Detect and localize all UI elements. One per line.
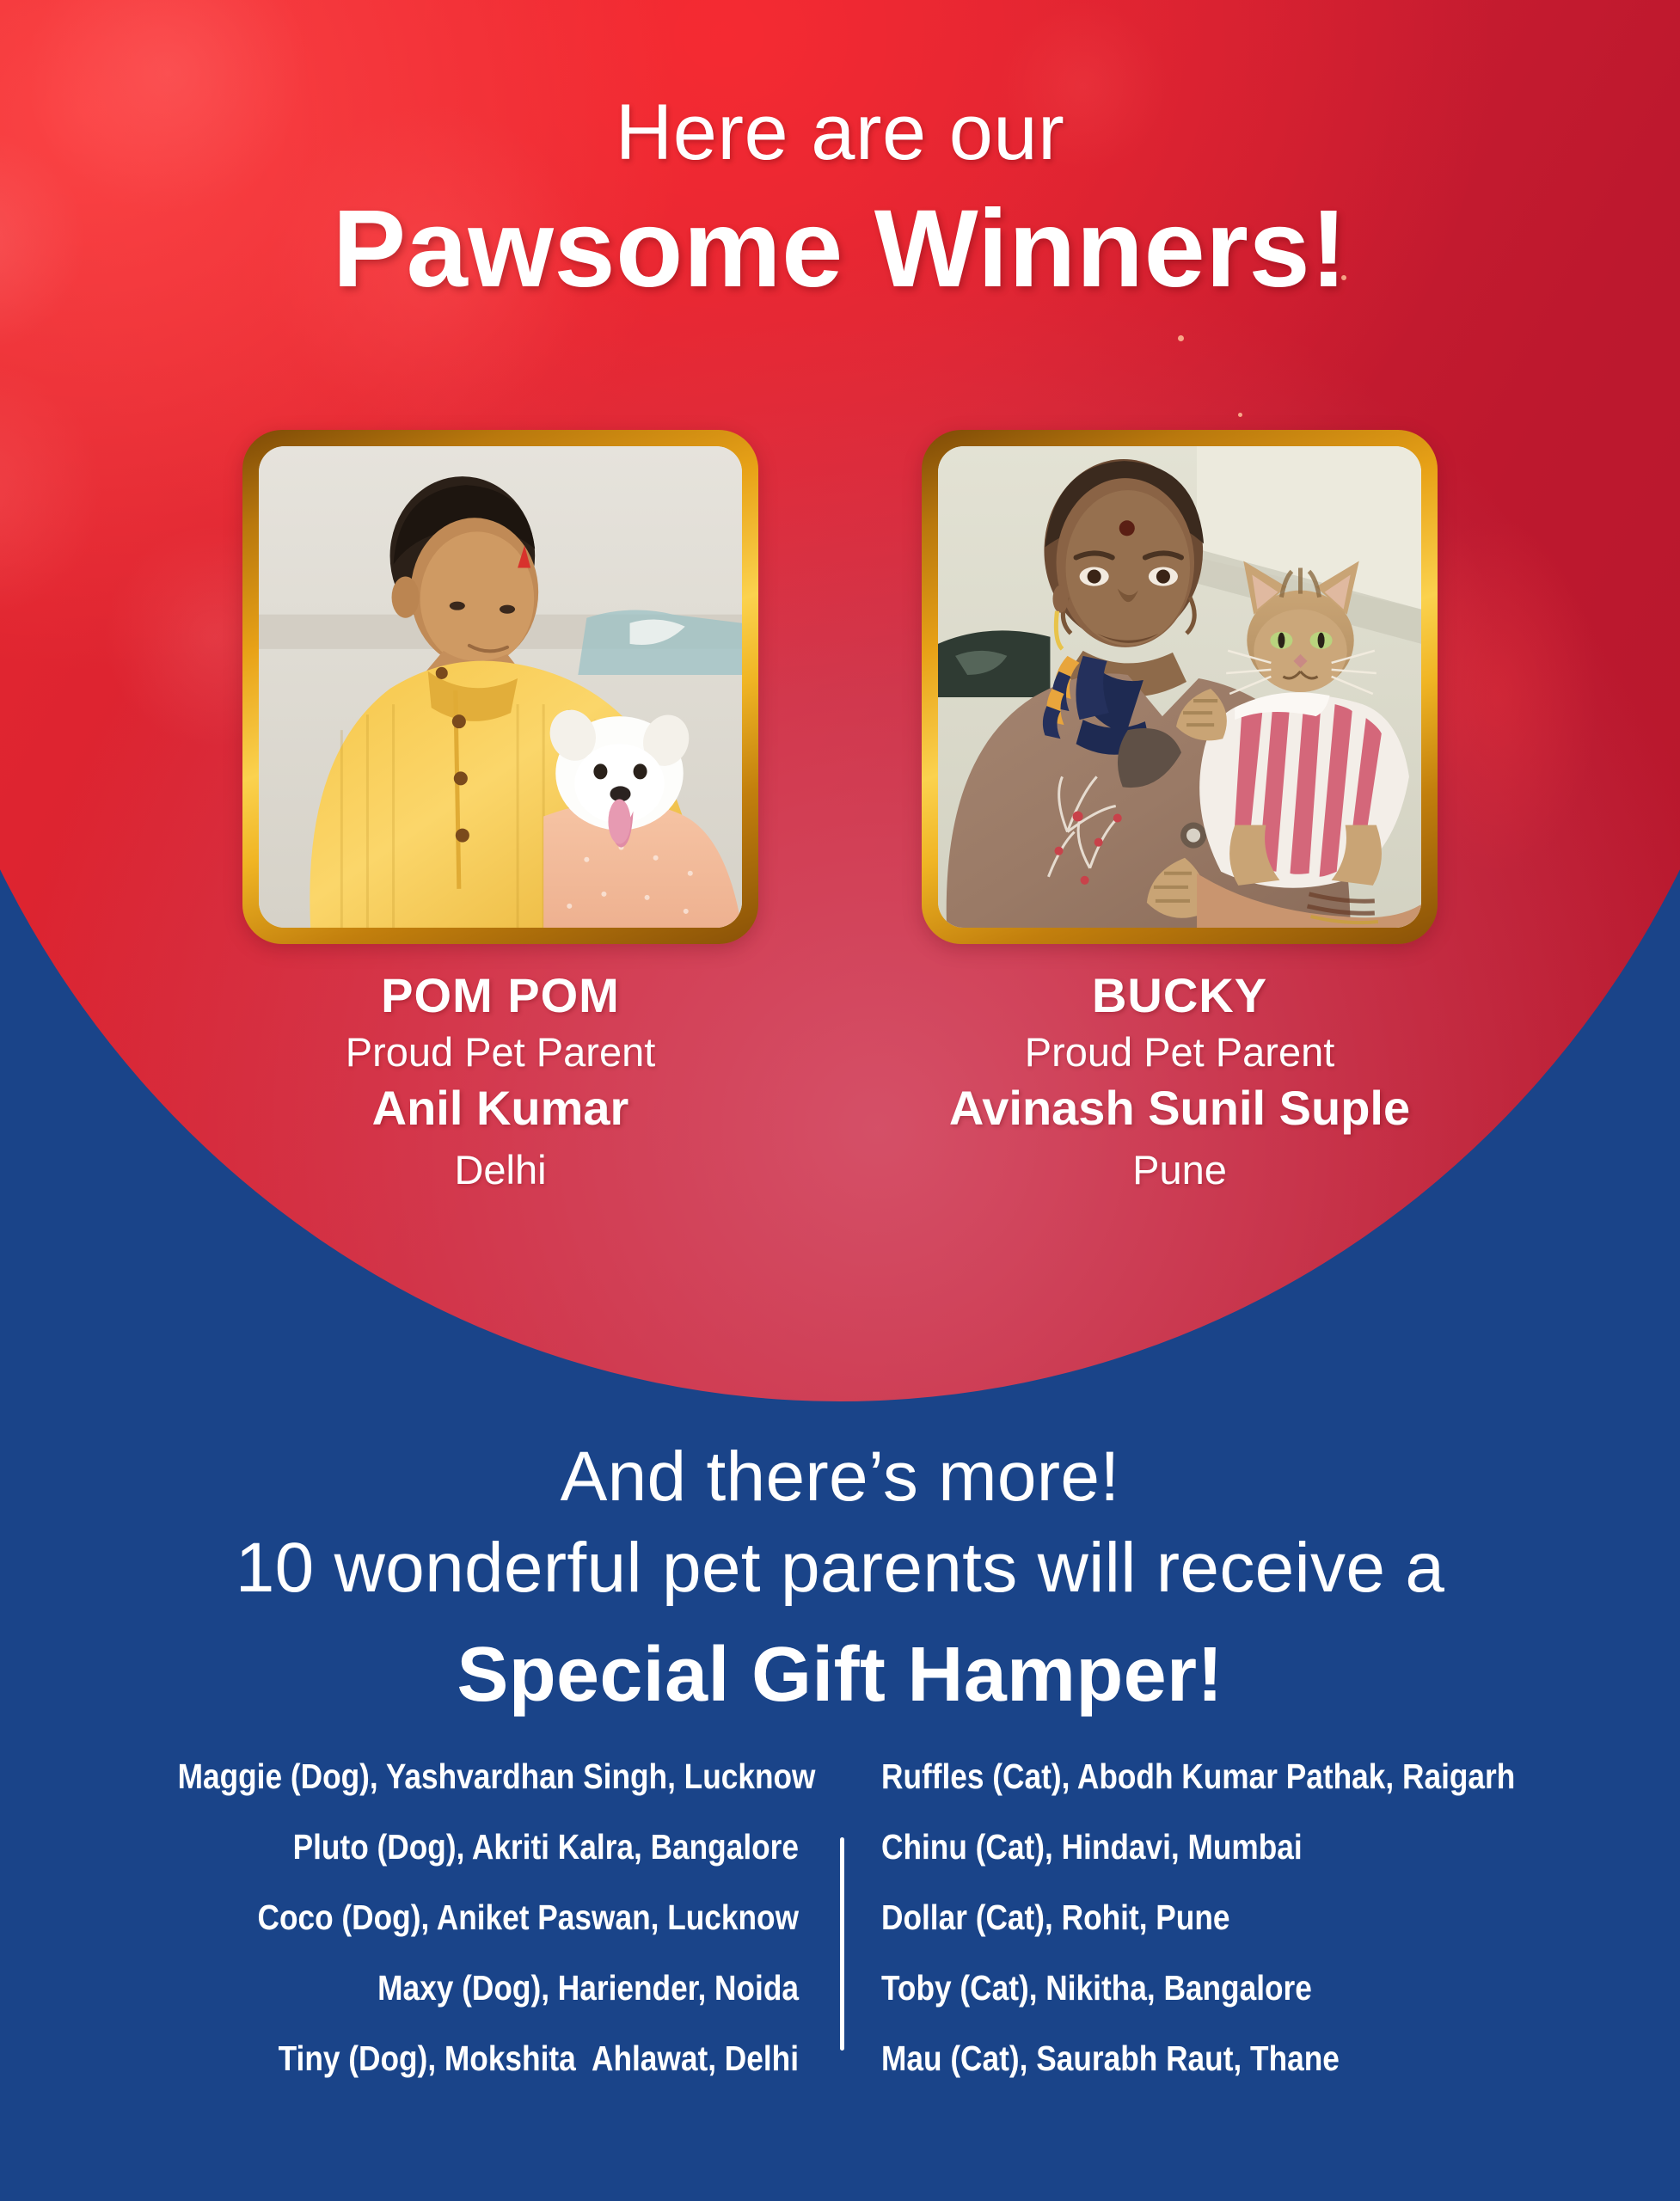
hero-heading-block: Here are our Pawsome Winners!	[0, 93, 1680, 304]
more-section-heading: And there’s more! 10 wonderful pet paren…	[0, 1438, 1680, 1718]
list-item: Tiny (Dog), Mokshita Ahlawat, Delhi	[178, 2041, 799, 2076]
gold-photo-frame	[242, 430, 758, 944]
column-divider	[840, 1837, 844, 2051]
pet-name: BUCKY	[922, 968, 1438, 1024]
list-item: Mau (Cat), Saurabh Raut, Thane	[881, 2041, 1502, 2076]
winner-caption: POM POM Proud Pet Parent Anil Kumar Delh…	[242, 968, 758, 1194]
winner-photo-pompom	[259, 446, 742, 928]
more-line-2: 10 wonderful pet parents will receive a	[0, 1529, 1680, 1608]
winner-card: BUCKY Proud Pet Parent Avinash Sunil Sup…	[922, 430, 1438, 1194]
hamper-list-left: Maggie (Dog), Yashvardhan Singh, Lucknow…	[77, 1759, 840, 2076]
list-item: Pluto (Dog), Akriti Kalra, Bangalore	[178, 1830, 799, 1865]
owner-city: Pune	[922, 1147, 1438, 1194]
list-item: Maxy (Dog), Hariender, Noida	[178, 1971, 799, 2006]
heading-line-2: Pawsome Winners!	[0, 194, 1680, 304]
list-item: Toby (Cat), Nikitha, Bangalore	[881, 1971, 1502, 2006]
gold-photo-frame	[922, 430, 1438, 944]
list-item: Ruffles (Cat), Abodh Kumar Pathak, Raiga…	[881, 1759, 1502, 1794]
list-item: Maggie (Dog), Yashvardhan Singh, Lucknow	[178, 1759, 799, 1794]
heading-line-1: Here are our	[0, 93, 1680, 172]
winner-card: POM POM Proud Pet Parent Anil Kumar Delh…	[242, 430, 758, 1194]
sparkle-dot	[1238, 413, 1242, 417]
more-line-3: Special Gift Hamper!	[0, 1632, 1680, 1719]
poster-canvas: Here are our Pawsome Winners!	[0, 0, 1680, 2201]
list-item: Coco (Dog), Aniket Paswan, Lucknow	[178, 1900, 799, 1935]
winner-photo-bucky	[938, 446, 1421, 928]
winner-caption: BUCKY Proud Pet Parent Avinash Sunil Sup…	[922, 968, 1438, 1194]
hamper-list-right: Ruffles (Cat), Abodh Kumar Pathak, Raiga…	[840, 1759, 1603, 2076]
list-item: Dollar (Cat), Rohit, Pune	[881, 1900, 1502, 1935]
pet-name: POM POM	[242, 968, 758, 1024]
owner-city: Delhi	[242, 1147, 758, 1194]
parent-role-label: Proud Pet Parent	[922, 1029, 1438, 1076]
more-line-1: And there’s more!	[0, 1438, 1680, 1517]
owner-name: Anil Kumar	[242, 1081, 758, 1137]
owner-name: Avinash Sunil Suple	[922, 1081, 1438, 1137]
parent-role-label: Proud Pet Parent	[242, 1029, 758, 1076]
list-item: Chinu (Cat), Hindavi, Mumbai	[881, 1830, 1502, 1865]
winner-cards: POM POM Proud Pet Parent Anil Kumar Delh…	[0, 430, 1680, 1194]
sparkle-dot	[1178, 335, 1184, 341]
